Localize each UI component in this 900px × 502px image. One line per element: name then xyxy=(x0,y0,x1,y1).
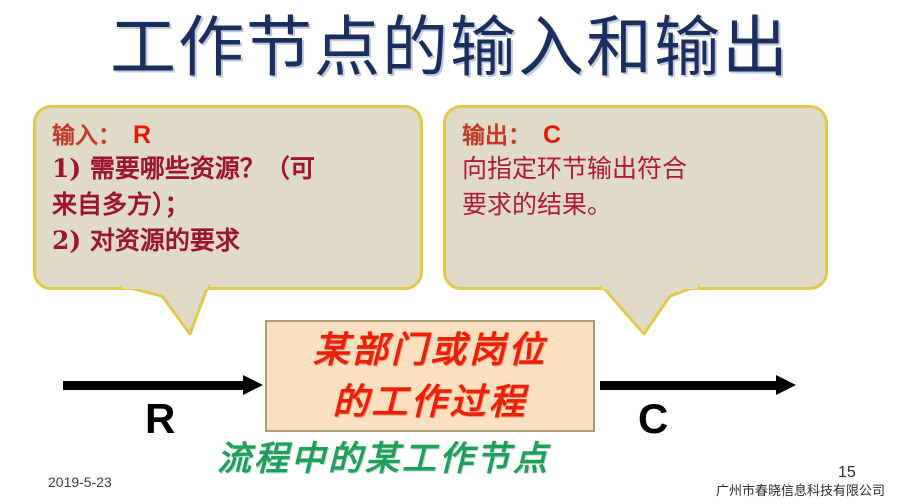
input-arrow-shaft xyxy=(63,381,243,390)
process-node-caption: 流程中的某工作节点 xyxy=(217,438,550,480)
output-callout-heading-label: 输出： xyxy=(462,123,531,149)
output-callout-line-1: 向指定环节输出符合 xyxy=(462,151,811,187)
input-callout-box: 输入：R 1) 需要哪些资源？（可 来自多方）； 2) 对资源的要求 xyxy=(33,105,423,290)
input-callout-heading-letter: R xyxy=(121,121,151,149)
process-node-box: 某部门或岗位 的工作过程 xyxy=(265,320,595,432)
process-node-text: 某部门或岗位 的工作过程 xyxy=(313,324,547,428)
process-node-line-2: 的工作过程 xyxy=(313,376,547,428)
input-callout-line-2: 来自多方）； xyxy=(52,187,406,223)
input-callout-tail xyxy=(120,284,210,336)
output-arrow-head-icon xyxy=(776,375,796,395)
output-callout-tail xyxy=(600,284,700,336)
output-callout-content: 输出：C 向指定环节输出符合 要求的结果。 xyxy=(446,108,825,229)
slide-date: 2019-5-23 xyxy=(48,474,112,490)
output-callout-heading-letter: C xyxy=(531,121,561,149)
input-callout-heading: 输入：R xyxy=(52,120,406,151)
input-callout-line-3: 2) 对资源的要求 xyxy=(52,223,406,259)
page-title: 工作节点的输入和输出 xyxy=(0,8,900,88)
output-arrow-label: C xyxy=(638,398,668,440)
input-callout-content: 输入：R 1) 需要哪些资源？（可 来自多方）； 2) 对资源的要求 xyxy=(36,108,420,265)
process-node-line-1: 某部门或岗位 xyxy=(313,324,547,376)
output-callout-heading: 输出：C xyxy=(462,120,811,151)
input-arrow-label: R xyxy=(145,398,175,440)
company-name: 广州市春晓信息科技有限公司 xyxy=(716,480,885,499)
input-arrow xyxy=(63,381,263,390)
output-arrow-shaft xyxy=(600,381,776,390)
output-arrow xyxy=(600,381,796,390)
input-callout-line-1: 1) 需要哪些资源？（可 xyxy=(52,151,406,187)
input-callout-heading-label: 输入： xyxy=(52,123,121,149)
input-arrow-head-icon xyxy=(243,375,263,395)
output-callout-box: 输出：C 向指定环节输出符合 要求的结果。 xyxy=(443,105,828,290)
slide-canvas: 工作节点的输入和输出 输入：R 1) 需要哪些资源？（可 来自多方）； 2) 对… xyxy=(0,0,900,502)
output-callout-line-2: 要求的结果。 xyxy=(462,187,811,223)
